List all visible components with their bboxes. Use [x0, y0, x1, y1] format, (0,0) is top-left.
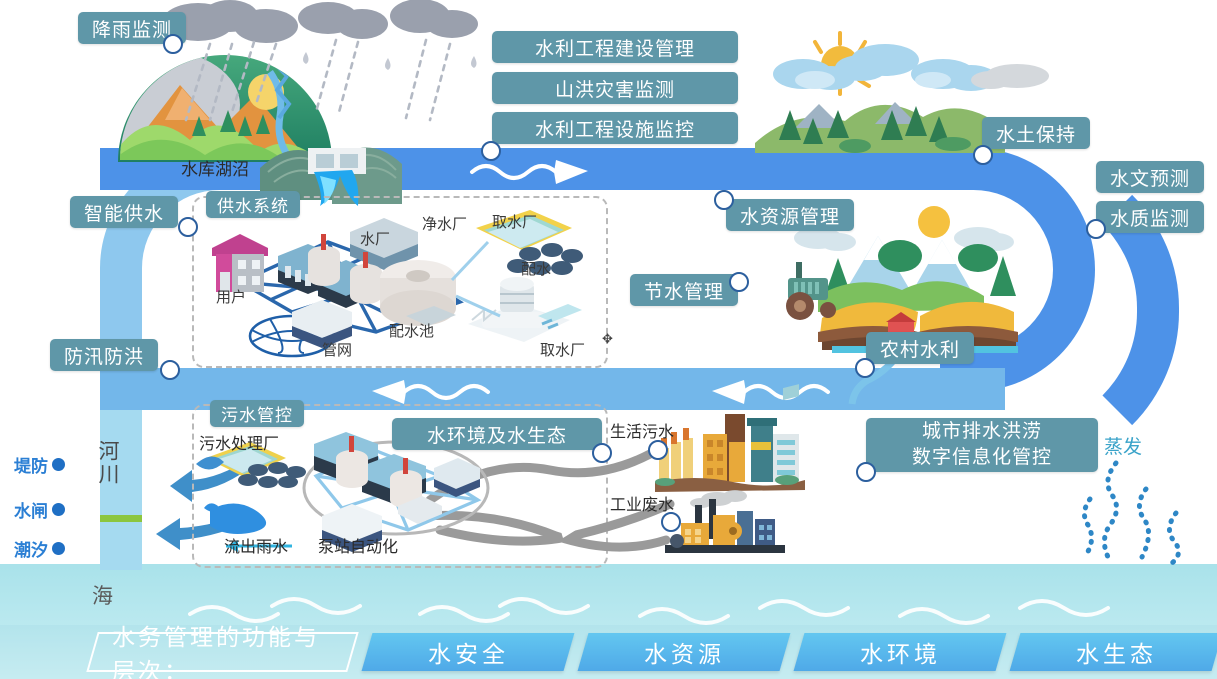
legend-title: 水务管理的功能与层次： — [86, 632, 358, 672]
legend-title-text: 水务管理的功能与层次： — [112, 618, 333, 679]
sluice-bullet-icon — [52, 503, 65, 516]
panel-tag-supply-system: 供水系统 — [206, 191, 300, 218]
dot-smart-water-supply — [178, 217, 198, 237]
infographic-canvas: 水库湖沼 — [0, 0, 1217, 679]
legend-item-water-environment[interactable]: 水环境 — [794, 633, 1007, 671]
caption-distribution-pool: 配水池 — [389, 320, 434, 341]
legend-item-water-safety-label: 水安全 — [428, 635, 509, 669]
label-mountain-flood-monitoring[interactable]: 山洪灾害监测 — [492, 72, 738, 104]
caption-users: 用户 — [216, 286, 246, 307]
caption-evaporation: 蒸发 — [1104, 432, 1142, 459]
caption-pump-station-automation: 泵站自动化 — [318, 533, 398, 557]
city-scene — [655, 412, 805, 492]
label-city-drainage-digital-control[interactable]: 城市排水洪涝 数字信息化管控 — [866, 418, 1098, 472]
dot-city-drainage — [856, 462, 876, 482]
legend-item-water-resources-label: 水资源 — [644, 635, 725, 669]
tide-bullet-icon — [52, 542, 65, 555]
legend-item-water-ecology[interactable]: 水生态 — [1010, 633, 1217, 671]
city-drainage-line1: 城市排水洪涝 — [922, 419, 1042, 445]
dot-rural-water-conservancy — [855, 358, 875, 378]
side-marker-embankment: 堤防 — [14, 452, 65, 477]
label-smart-water-supply[interactable]: 智能供水 — [70, 196, 178, 228]
embankment-bullet-icon — [52, 458, 65, 471]
caption-purification-plant: 净水厂 — [422, 213, 467, 234]
label-water-quality-monitoring[interactable]: 水质监测 — [1096, 201, 1204, 233]
dot-water-quality-monitoring — [1086, 219, 1106, 239]
dot-domestic-sewage — [648, 440, 668, 460]
legend-item-water-resources[interactable]: 水资源 — [578, 633, 791, 671]
city-drainage-line2: 数字信息化管控 — [912, 445, 1052, 471]
sluice-gate-bar — [100, 515, 142, 522]
caption-industrial-wastewater: 工业废水 — [610, 491, 674, 515]
panel-tag-sewage-control: 污水管控 — [210, 400, 304, 427]
caption-intake-plant-top: 取水厂 — [492, 211, 537, 232]
side-marker-tide: 潮汐 — [14, 536, 65, 561]
label-river: 河川 — [92, 440, 122, 486]
caption-sewage-treatment-plant: 污水处理厂 — [199, 430, 279, 454]
evaporation-vapor-icon — [1080, 455, 1200, 565]
flow-arrow-left-icon-2 — [690, 370, 830, 410]
caption-intake-plant-bottom: 取水厂 — [540, 339, 585, 360]
bottom-legend-bar: 水务管理的功能与层次： 水安全 水资源 水环境 水生态 — [0, 625, 1217, 679]
side-marker-embankment-label: 堤防 — [14, 452, 48, 477]
dot-water-resource-management — [714, 190, 734, 210]
label-sea: 海 — [92, 580, 113, 610]
side-marker-sluice: 水闸 — [14, 497, 65, 522]
caption-water-distribution: 配水 — [521, 258, 551, 279]
dot-water-environment-ecology — [592, 443, 612, 463]
dot-water-saving-management — [729, 272, 749, 292]
mouse-cursor: ✥ — [602, 331, 613, 347]
side-marker-tide-label: 潮汐 — [14, 536, 48, 561]
label-water-resource-management[interactable]: 水资源管理 — [726, 199, 854, 231]
legend-item-water-ecology-label: 水生态 — [1076, 635, 1157, 669]
dot-soil-water-conservation — [973, 145, 993, 165]
side-marker-sluice-label: 水闸 — [14, 497, 48, 522]
label-flood-control[interactable]: 防汛防洪 — [50, 339, 158, 371]
label-water-facility-monitoring[interactable]: 水利工程设施监控 — [492, 112, 738, 144]
legend-item-water-environment-label: 水环境 — [860, 635, 941, 669]
caption-outflow-rainwater: 流出雨水 — [224, 533, 288, 557]
dot-rainfall-monitoring — [163, 34, 183, 54]
label-soil-water-conservation[interactable]: 水土保持 — [982, 117, 1090, 149]
label-rural-water-conservancy[interactable]: 农村水利 — [866, 332, 974, 364]
caption-domestic-sewage: 生活污水 — [610, 418, 674, 442]
label-hydrological-forecast[interactable]: 水文预测 — [1096, 161, 1204, 193]
legend-item-water-safety[interactable]: 水安全 — [362, 633, 575, 671]
dot-industrial-wastewater — [661, 512, 681, 532]
caption-reservoir-lake: 水库湖沼 — [181, 155, 249, 180]
dot-water-facility-monitoring — [481, 141, 501, 161]
industry-scene — [665, 493, 790, 555]
label-water-environment-ecology[interactable]: 水环境及水生态 — [392, 418, 602, 450]
dot-flood-control — [160, 360, 180, 380]
label-water-saving-management[interactable]: 节水管理 — [630, 274, 738, 306]
label-water-conservancy-construction[interactable]: 水利工程建设管理 — [492, 31, 738, 63]
caption-water-plant: 水厂 — [360, 228, 390, 249]
caption-pipe-network: 管网 — [322, 339, 352, 360]
